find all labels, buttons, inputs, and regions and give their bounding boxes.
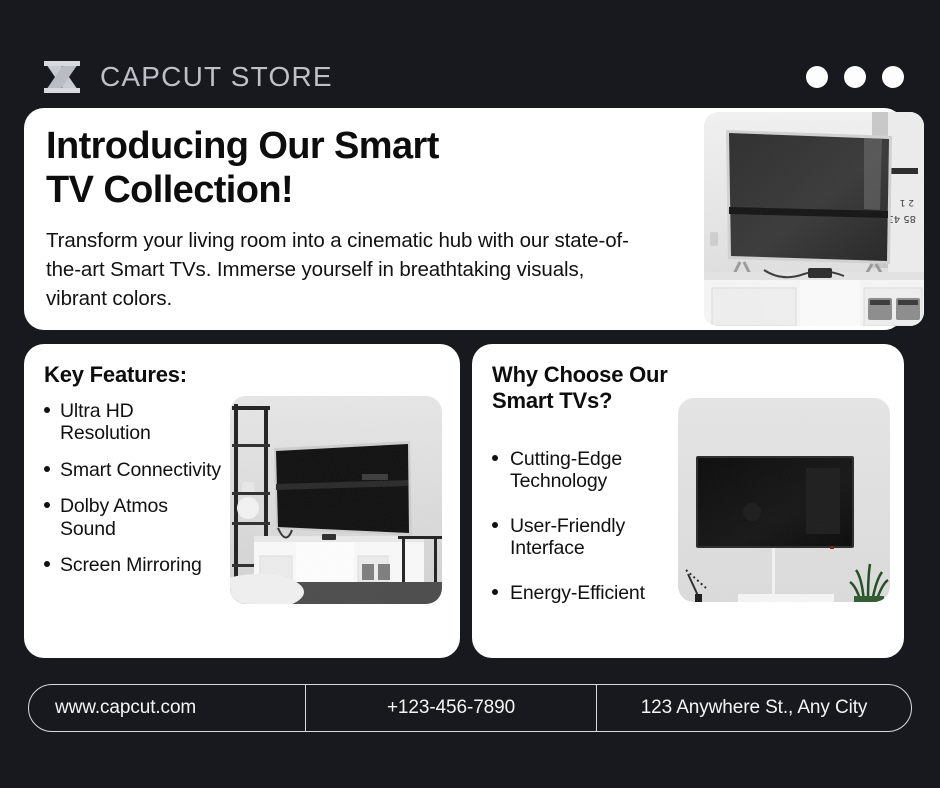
why-choose-heading: Why Choose Our Smart TVs?	[492, 362, 672, 414]
dot-1-icon[interactable]	[806, 66, 828, 88]
footer-contact-bar: www.capcut.com +123-456-7890 123 Anywher…	[28, 684, 912, 732]
hero-title-line1: Introducing Our Smart	[46, 125, 439, 167]
hero-card: Introducing Our Smart TV Collection! Tra…	[24, 108, 904, 330]
header-bar: CAPCUT STORE	[0, 46, 940, 108]
dot-3-icon[interactable]	[882, 66, 904, 88]
window-dots	[806, 66, 904, 88]
why-choose-list: Cutting-Edge Technology User-Friendly In…	[490, 448, 690, 626]
list-item: Energy-Efficient	[490, 582, 690, 604]
list-item: Ultra HD Resolution	[42, 400, 222, 445]
list-item: Smart Connectivity	[42, 459, 222, 481]
capcut-logo-icon	[40, 57, 84, 97]
brand-lockup[interactable]: CAPCUT STORE	[40, 57, 333, 97]
list-item: Cutting-Edge Technology	[490, 448, 690, 493]
dot-2-icon[interactable]	[844, 66, 866, 88]
hero-body-text: Transform your living room into a cinema…	[46, 226, 646, 313]
footer-phone[interactable]: +123-456-7890	[305, 685, 597, 731]
list-item: Dolby Atmos Sound	[42, 495, 222, 540]
key-features-list: Ultra HD Resolution Smart Connectivity D…	[42, 400, 222, 591]
living-room-tv-photo	[230, 396, 442, 604]
poster-canvas: CAPCUT STORE Introducing Our Smart TV Co…	[0, 0, 940, 788]
wall-mounted-tv-photo	[678, 398, 890, 602]
hero-title: Introducing Our Smart TV Collection!	[46, 124, 646, 212]
footer-website[interactable]: www.capcut.com	[29, 685, 305, 731]
why-choose-card: Why Choose Our Smart TVs? Cutting-Edge T…	[472, 344, 904, 658]
key-features-heading: Key Features:	[44, 362, 284, 388]
list-item: User-Friendly Interface	[490, 515, 690, 560]
hero-tv-photo: 2 1 85 43	[704, 112, 924, 326]
key-features-card: Key Features: Ultra HD Resolution Smart …	[24, 344, 460, 658]
brand-name: CAPCUT STORE	[100, 61, 333, 93]
list-item: Screen Mirroring	[42, 554, 222, 576]
hero-title-line2: TV Collection!	[46, 169, 293, 211]
footer-address: 123 Anywhere St., Any City	[597, 685, 911, 731]
